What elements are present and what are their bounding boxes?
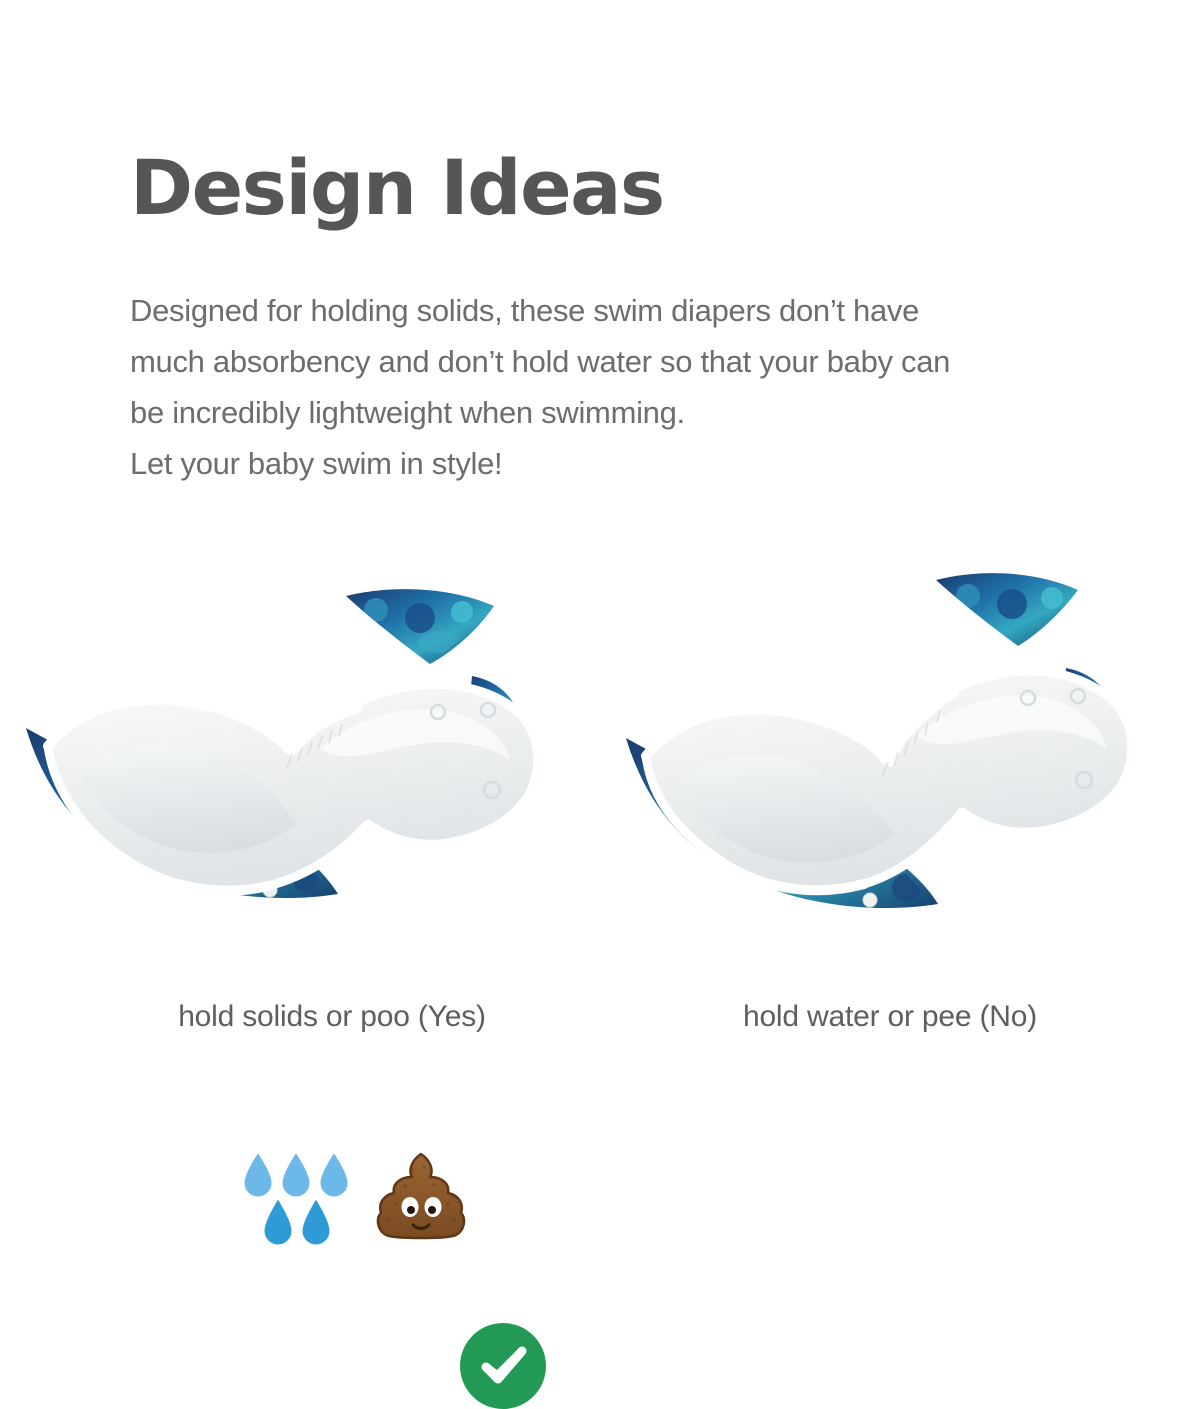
poo-body xyxy=(378,1154,464,1238)
check-badge xyxy=(460,1323,546,1409)
intro-line-1: Designed for holding solids, these swim … xyxy=(130,285,1120,336)
caption-hold-solids: hold solids or poo (Yes) xyxy=(42,1000,622,1034)
page-title: Design Ideas xyxy=(130,150,664,226)
panel-hold-solids xyxy=(20,500,600,940)
intro-line-2: much absorbency and don’t hold water so … xyxy=(130,336,1120,387)
swim-diaper-image-water xyxy=(620,500,1200,940)
snap-button xyxy=(863,893,877,907)
check-icon xyxy=(474,1337,532,1395)
caption-hold-water: hold water or pee (No) xyxy=(600,1000,1180,1034)
intro-line-3: be incredibly lightweight when swimming. xyxy=(130,387,1120,438)
intro-line-4: Let your baby swim in style! xyxy=(130,438,1120,489)
water-drops-icon xyxy=(238,1143,368,1255)
poo-emoji-icon xyxy=(372,1150,470,1244)
panel-hold-water xyxy=(620,500,1200,940)
swim-diaper-image-solids xyxy=(20,500,600,940)
intro-paragraph: Designed for holding solids, these swim … xyxy=(130,285,1120,489)
